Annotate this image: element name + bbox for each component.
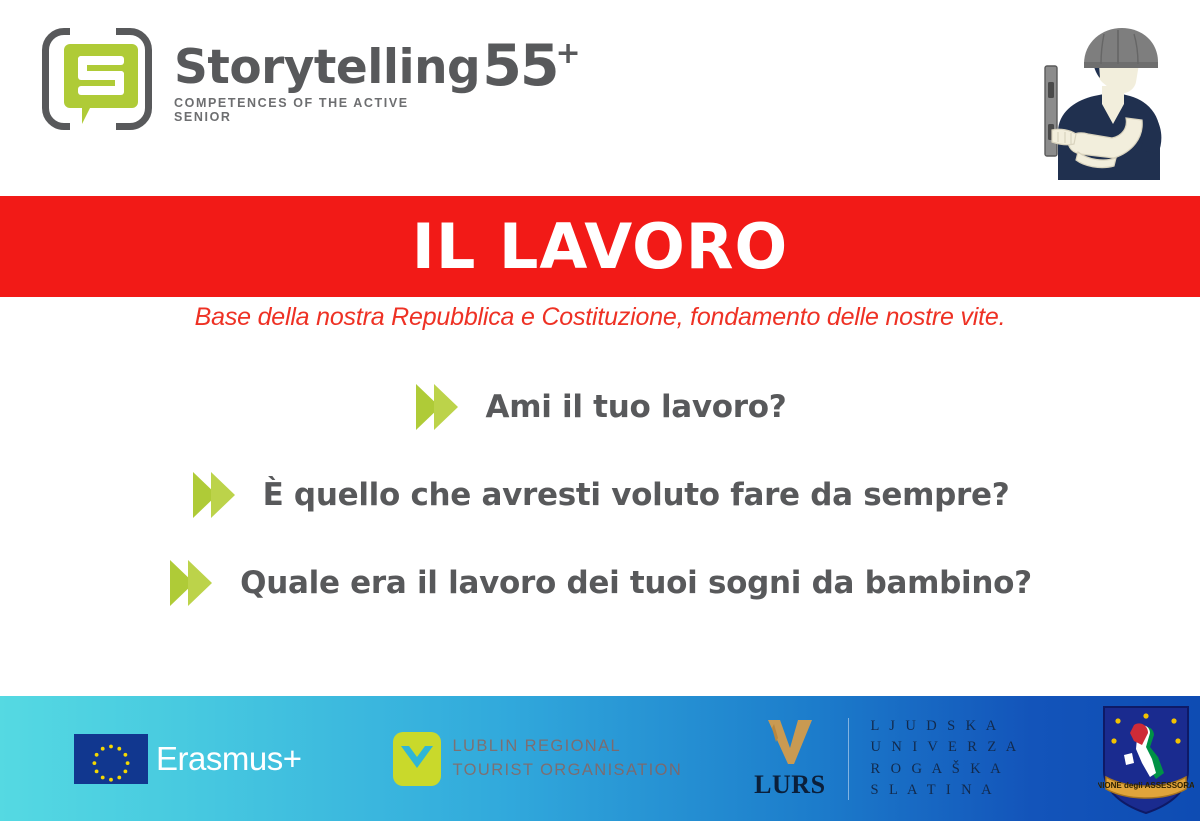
lublin-mark-icon (393, 732, 441, 786)
lurs-wordmark: LURS (754, 770, 825, 800)
storytelling-logo-mark-icon (36, 26, 158, 132)
lublin-logo-text: LUBLIN REGIONAL TOURIST ORGANISATION (452, 735, 682, 783)
lurs-name-line-1: L J U D S K A (871, 716, 1020, 737)
footer-logo-strip: Erasmus+ LUBLIN REGIONAL TOURIST ORGANIS… (0, 703, 1200, 815)
lublin-logo-line-2: TOURIST ORGANISATION (452, 759, 682, 783)
chevron-right-icon (414, 382, 460, 432)
lurs-mark-and-word: LURS (754, 718, 825, 800)
question-text: È quello che avresti voluto fare da semp… (263, 477, 1010, 513)
slide-canvas: Storytelling 55 + COMPETENCES OF THE ACT… (0, 0, 1200, 821)
svg-text:UNIONE degli ASSESSORATI: UNIONE degli ASSESSORATI (1098, 781, 1194, 790)
subtitle-text: Base della nostra Repubblica e Costituzi… (0, 303, 1200, 332)
eu-flag-icon (74, 734, 148, 784)
erasmus-plus-label: Erasmus+ (156, 740, 301, 778)
worker-with-hardhat-icon (1018, 20, 1178, 185)
chevron-right-icon (168, 558, 214, 608)
lurs-name-line-4: S L A T I N A (871, 780, 1020, 801)
logo-tagline: COMPETENCES OF THE ACTIVE SENIOR (174, 96, 424, 124)
speech-bubble-tail (82, 106, 104, 124)
slide-header: Storytelling 55 + COMPETENCES OF THE ACT… (0, 0, 1200, 196)
s-bar-bottom (78, 86, 124, 95)
unione-degli-assessorati-crest-icon: UNIONE degli ASSESSORATI (1098, 703, 1194, 815)
letter-s-glyph (76, 56, 126, 96)
lublin-logo-line-1: LUBLIN REGIONAL (452, 735, 682, 759)
lublin-regional-tourist-organisation-logo: LUBLIN REGIONAL TOURIST ORGANISATION (393, 732, 682, 786)
lurs-institution-name: L J U D S K A U N I V E R Z A R O G A Š … (871, 716, 1020, 800)
logo-plus-sign: + (556, 39, 581, 69)
chevron-right-icon (191, 470, 237, 520)
logo-wordmark: Storytelling (174, 44, 480, 91)
lurs-mark-icon (764, 718, 816, 766)
title-banner: IL LAVORO (0, 196, 1200, 297)
lurs-name-line-3: R O G A Š K A (871, 759, 1020, 780)
page-title: IL LAVORO (412, 216, 789, 278)
storytelling-logo-text: Storytelling 55 + COMPETENCES OF THE ACT… (174, 34, 583, 124)
lurs-logo: LURS L J U D S K A U N I V E R Z A R O G… (754, 716, 1020, 800)
question-text: Quale era il lavoro dei tuoi sogni da ba… (240, 565, 1032, 601)
lurs-name-line-2: U N I V E R Z A (871, 737, 1020, 758)
slide-footer: Erasmus+ LUBLIN REGIONAL TOURIST ORGANIS… (0, 696, 1200, 821)
storytelling-logo: Storytelling 55 + COMPETENCES OF THE ACT… (36, 26, 583, 132)
logo-wordmark-row: Storytelling 55 + (174, 34, 583, 91)
bracket-gap-top (70, 25, 116, 36)
lurs-divider (848, 718, 849, 800)
erasmus-plus-logo: Erasmus+ (74, 734, 301, 784)
list-item: Quale era il lavoro dei tuoi sogni da ba… (0, 558, 1200, 608)
logo-age-badge: 55 (482, 38, 557, 95)
list-item: È quello che avresti voluto fare da semp… (0, 470, 1200, 520)
question-list: Ami il tuo lavoro? È quello che avresti … (0, 382, 1200, 646)
question-text: Ami il tuo lavoro? (486, 389, 787, 425)
list-item: Ami il tuo lavoro? (0, 382, 1200, 432)
